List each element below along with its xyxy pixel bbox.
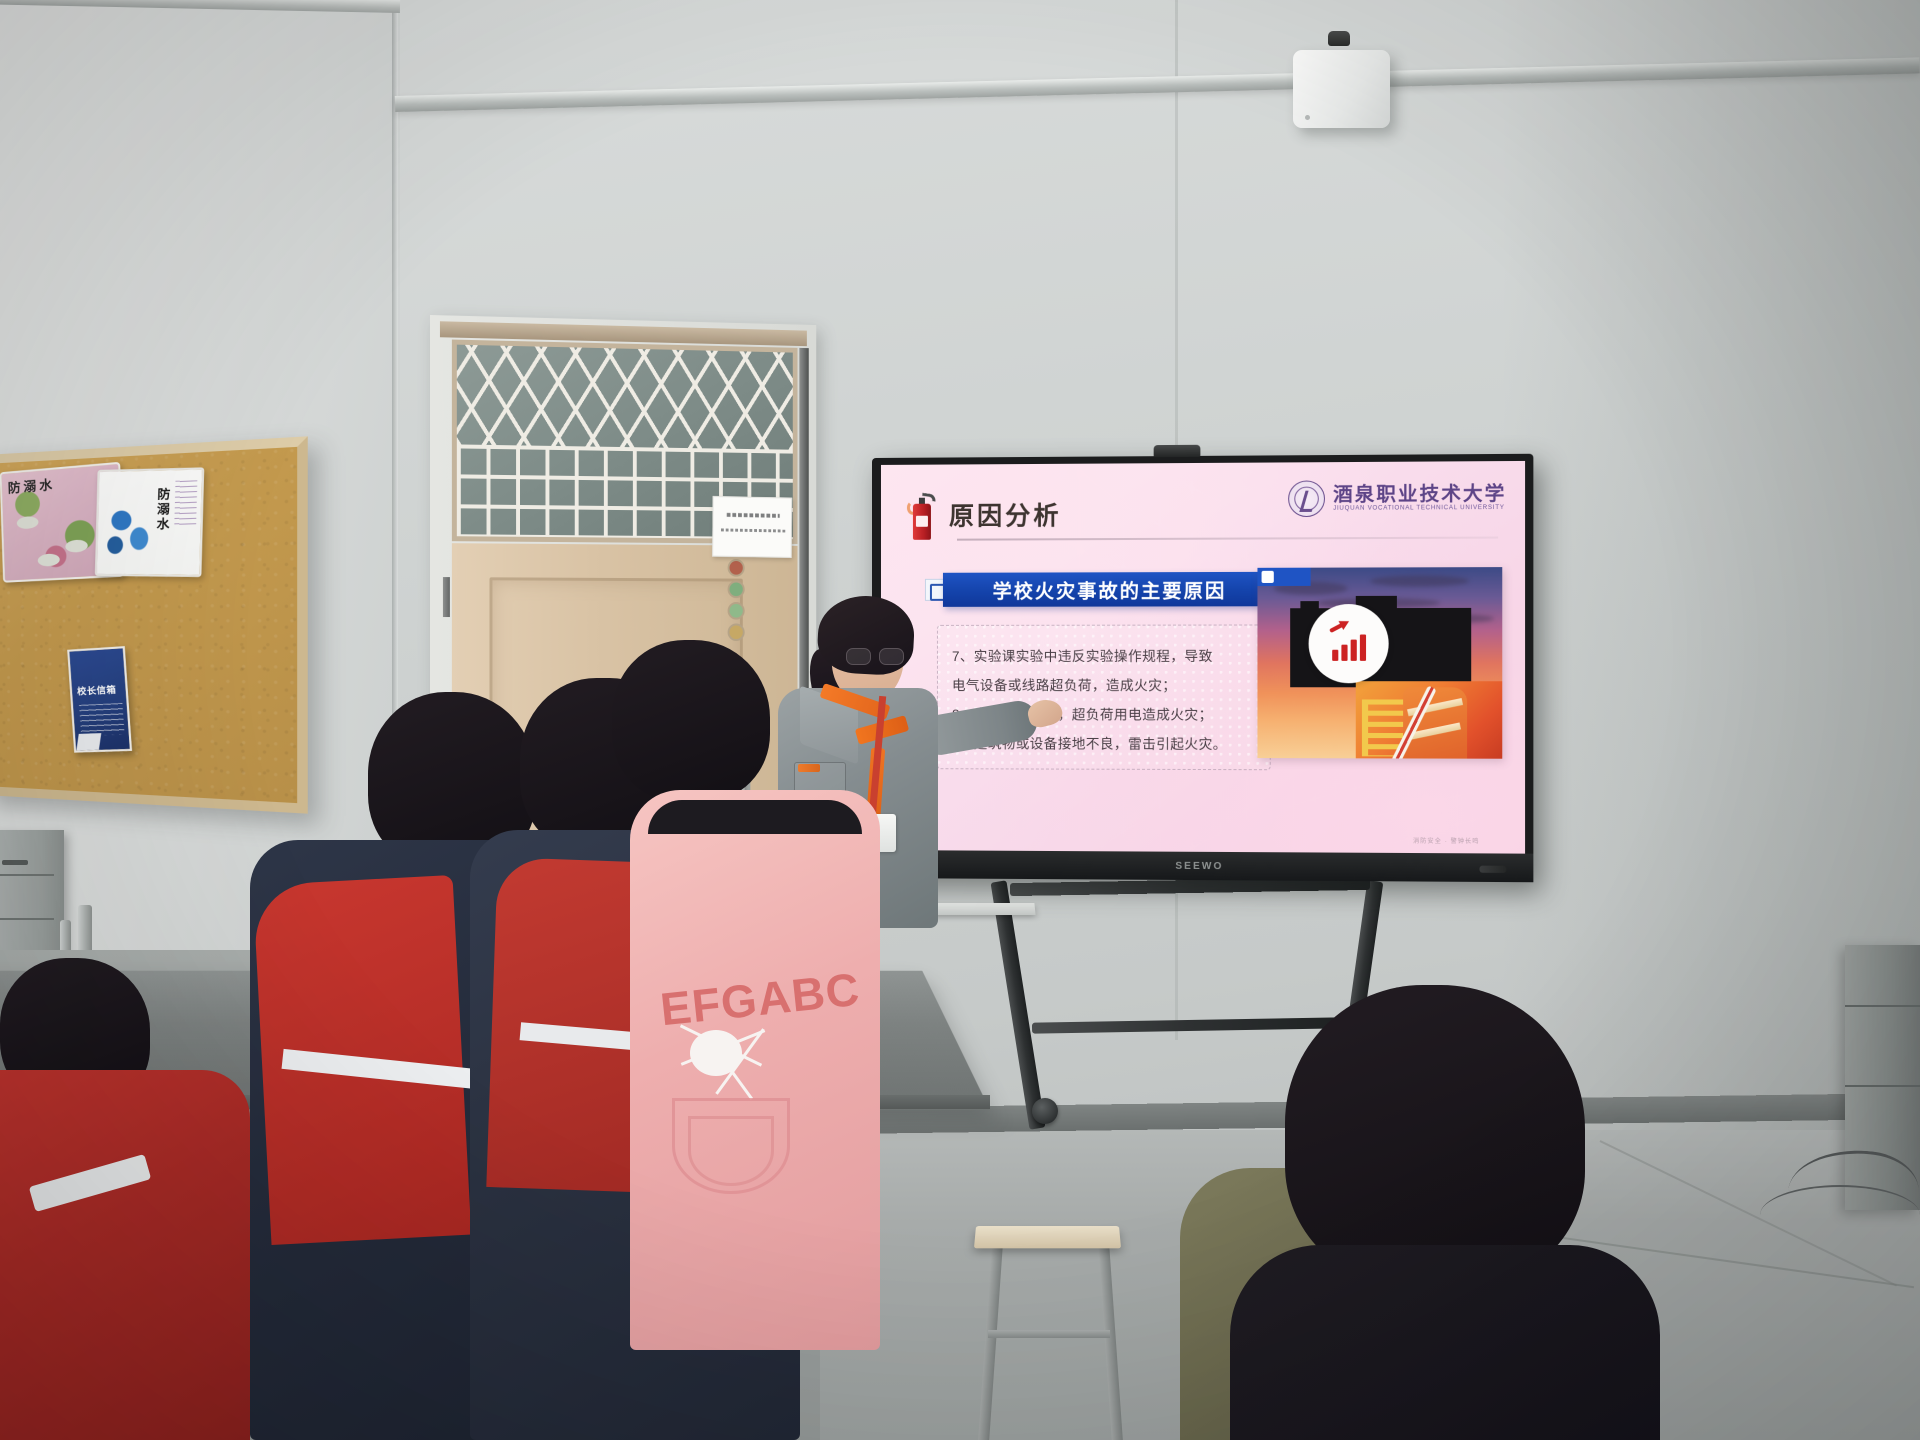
wall-sensor-box — [1293, 50, 1390, 128]
drawing-2-text-lines — [174, 480, 197, 527]
firefighter-illustration — [1356, 681, 1502, 759]
wooden-stool — [974, 1226, 1121, 1248]
poster-title: 校长信箱 — [77, 682, 117, 697]
indicator-amber — [728, 623, 745, 641]
slide-photo-collage — [1257, 567, 1502, 759]
poster-text-lines — [79, 703, 125, 736]
stand-shelf — [924, 903, 1035, 915]
photo-tab-icon — [1257, 568, 1310, 586]
display-camera — [1154, 445, 1201, 457]
slide-title: 原因分析 — [949, 504, 1062, 530]
bullet-line: 7、实验课实验中违反实验操作规程，导致 — [952, 642, 1257, 671]
door-notice-paper — [712, 496, 792, 558]
fire-extinguisher-icon — [909, 494, 935, 540]
student-drawing-2: 防溺水 — [95, 467, 204, 577]
university-logo: 酒泉职业技术大学 JIUQUAN VOCATIONAL TECHNICAL UN… — [1288, 479, 1506, 517]
university-seal-icon — [1288, 480, 1325, 517]
wall-camera-mount — [1328, 31, 1350, 46]
notice-heading-line — [727, 513, 780, 518]
display-chin-bezel: SEEWO — [872, 850, 1533, 882]
indicator-green-2 — [728, 602, 745, 620]
indicator-green — [728, 581, 745, 599]
cabinet-handle[interactable] — [2, 860, 28, 865]
bar-chart-badge — [1309, 604, 1389, 683]
presentation-slide: 原因分析 酒泉职业技术大学 JIUQUAN VOCATIONAL TECHNIC… — [881, 461, 1525, 854]
principal-mailbox-poster: 校长信箱 — [67, 646, 132, 752]
interactive-display[interactable]: 原因分析 酒泉职业技术大学 JIUQUAN VOCATIONAL TECHNIC… — [872, 454, 1533, 882]
university-name-en: JIUQUAN VOCATIONAL TECHNICAL UNIVERSITY — [1333, 505, 1506, 512]
notice-body-line — [721, 528, 785, 532]
display-brand-label: SEEWO — [1175, 860, 1223, 871]
drawing-2-title: 防溺水 — [154, 487, 173, 532]
door-indicator-lights — [728, 559, 749, 629]
slide-bullet-box: 7、实验课实验中违反实验操作规程，导致 电气设备或线路超负荷，造成火灾； 8、电… — [937, 624, 1271, 770]
slide-banner: 学校火灾事故的主要原因 — [943, 572, 1277, 607]
indicator-red — [728, 559, 745, 577]
corkboard: 防溺水 防溺水 校长信箱 — [0, 436, 308, 813]
poster-graphic — [76, 733, 101, 750]
slide-banner-text: 学校火灾事故的主要原因 — [993, 576, 1227, 604]
university-name-cn: 酒泉职业技术大学 — [1333, 485, 1506, 506]
presenter-glasses — [846, 648, 908, 665]
stand-caster-left — [1032, 1098, 1058, 1124]
classroom-scene: 防溺水 防溺水 校长信箱 — [0, 0, 1920, 1440]
bullet-line: 电气设备或线路超负荷，造成火灾； — [952, 671, 1257, 700]
display-bezel: 原因分析 酒泉职业技术大学 JIUQUAN VOCATIONAL TECHNIC… — [881, 461, 1525, 854]
bar-chart-icon — [1332, 635, 1366, 661]
lattice-diamond-pattern — [457, 345, 793, 450]
display-ir-receiver — [1479, 866, 1506, 873]
jacket-pocket-tag — [798, 764, 820, 772]
drawing-1-title: 防溺水 — [7, 474, 55, 497]
sensor-led — [1305, 115, 1310, 120]
cabinet-left — [0, 830, 64, 960]
slide-footer-caption: 消防安全 · 警钟长鸣 — [1413, 836, 1479, 846]
